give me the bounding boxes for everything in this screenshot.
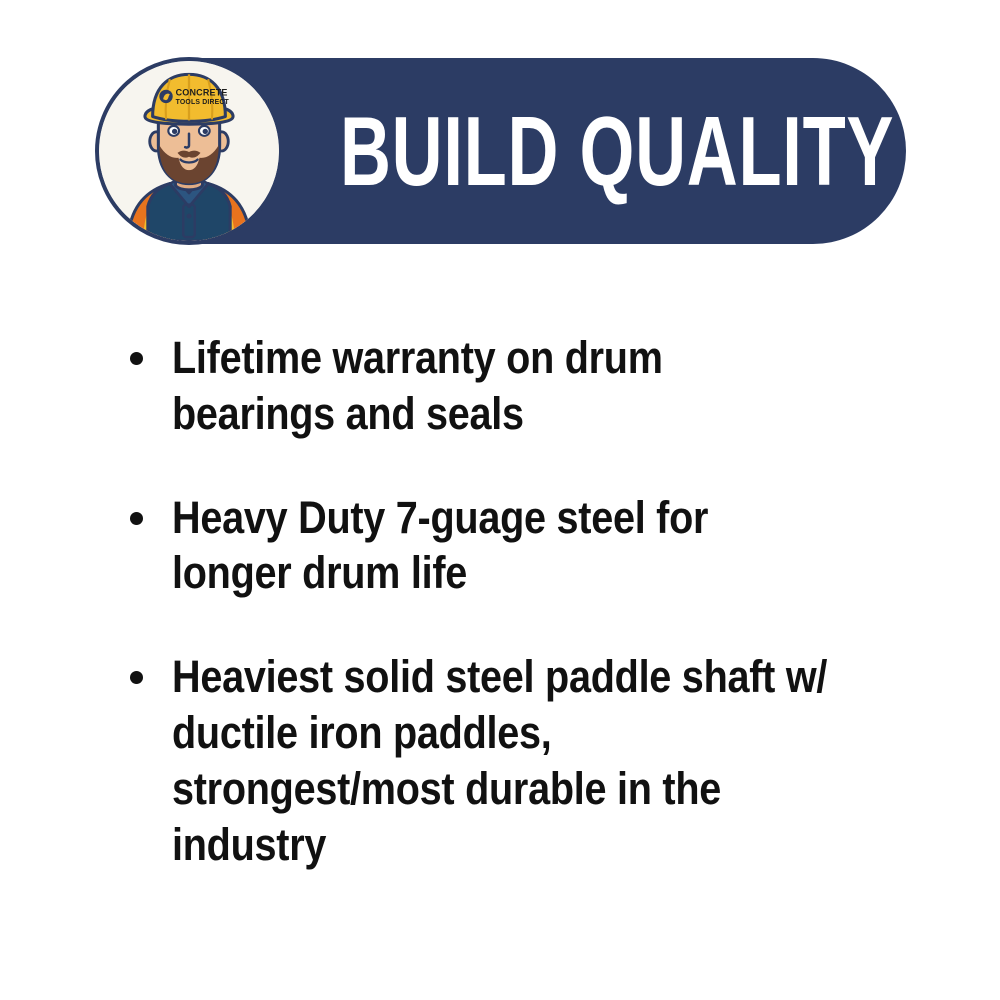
- avatar-illustration: CONCRETE TOOLS DIRECT: [99, 61, 279, 241]
- list-item-text: Heavy Duty 7-guage steel for longer drum…: [172, 490, 830, 602]
- feature-list: Lifetime warranty on drum bearings and s…: [130, 330, 920, 872]
- bullet-dot-icon: [130, 671, 143, 684]
- list-item-text: Lifetime warranty on drum bearings and s…: [172, 330, 830, 442]
- avatar: CONCRETE TOOLS DIRECT: [95, 57, 283, 245]
- helmet-logo-line1: CONCRETE: [176, 87, 228, 97]
- bullet-dot-icon: [130, 352, 143, 365]
- list-item: Heaviest solid steel paddle shaft w/ duc…: [130, 649, 920, 872]
- list-item: Heavy Duty 7-guage steel for longer drum…: [130, 490, 920, 602]
- list-item: Lifetime warranty on drum bearings and s…: [130, 330, 920, 442]
- page-title: BUILD QUALITY: [340, 102, 894, 200]
- helmet-logo-line2: TOOLS DIRECT: [176, 99, 230, 106]
- bullet-dot-icon: [130, 512, 143, 525]
- list-item-text: Heaviest solid steel paddle shaft w/ duc…: [172, 649, 830, 872]
